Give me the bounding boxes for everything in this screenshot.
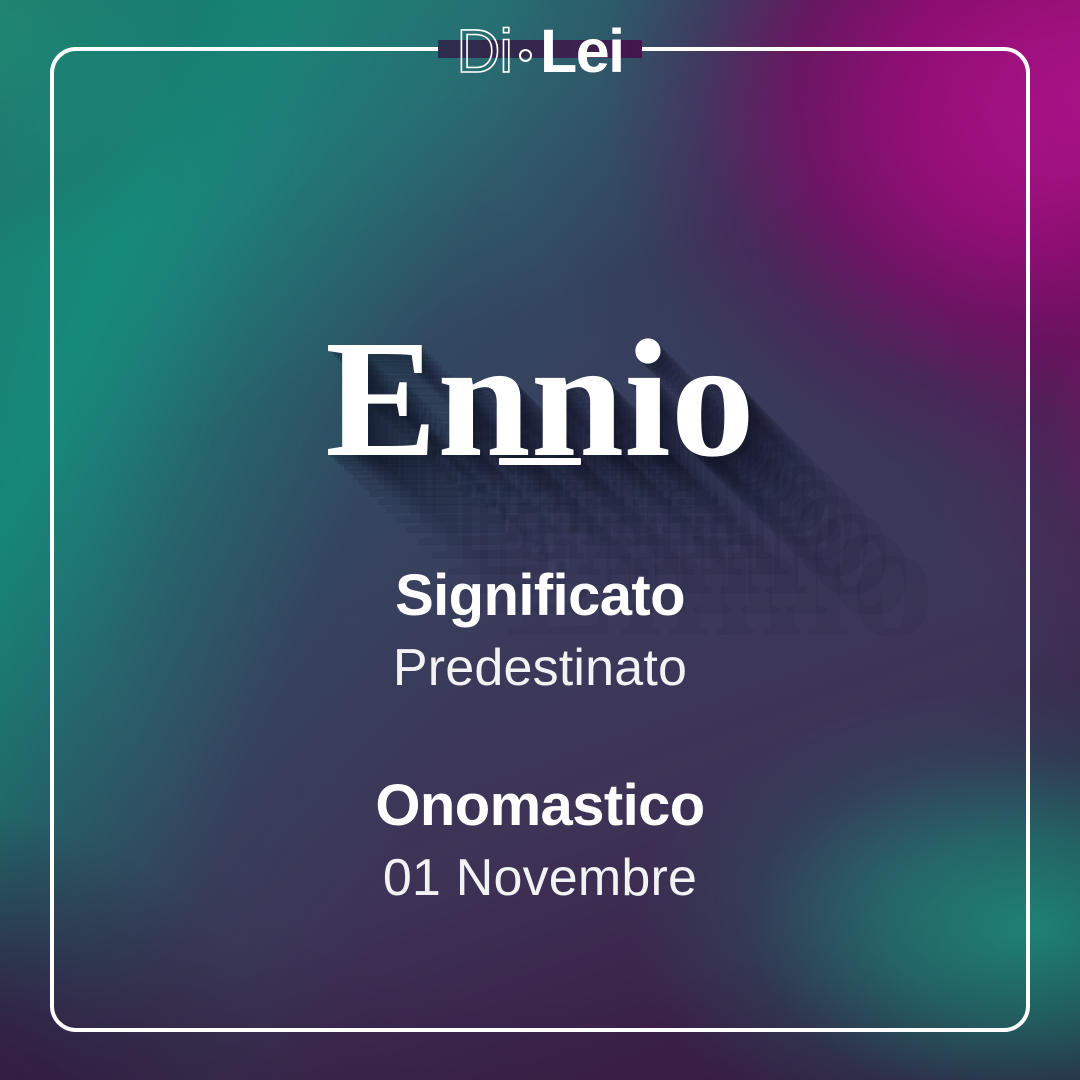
divider-container bbox=[0, 458, 1080, 465]
info-block-onomastico-value: 01 Novembre bbox=[0, 847, 1080, 909]
brand-logo-lei-text: Lei bbox=[540, 21, 624, 82]
info-block-significato: Significato Predestinato bbox=[0, 562, 1080, 700]
circle-dot-icon bbox=[519, 49, 532, 62]
info-block-onomastico-label: Onomastico bbox=[0, 772, 1080, 839]
horizontal-rule-divider bbox=[499, 458, 581, 465]
brand-logo-di-text: Di bbox=[456, 21, 512, 82]
info-block-significato-label: Significato bbox=[0, 562, 1080, 629]
brand-logo[interactable]: Di Lei bbox=[0, 14, 1080, 90]
name-heading-container: Ennio bbox=[0, 196, 1080, 603]
info-blocks: Significato Predestinato Onomastico 01 N… bbox=[0, 562, 1080, 909]
info-block-significato-value: Predestinato bbox=[0, 637, 1080, 699]
brand-logo-lockup: Di Lei bbox=[440, 22, 639, 83]
info-block-onomastico: Onomastico 01 Novembre bbox=[0, 772, 1080, 910]
name-card: Di Lei Ennio Significato Predestinato On… bbox=[0, 0, 1080, 1080]
